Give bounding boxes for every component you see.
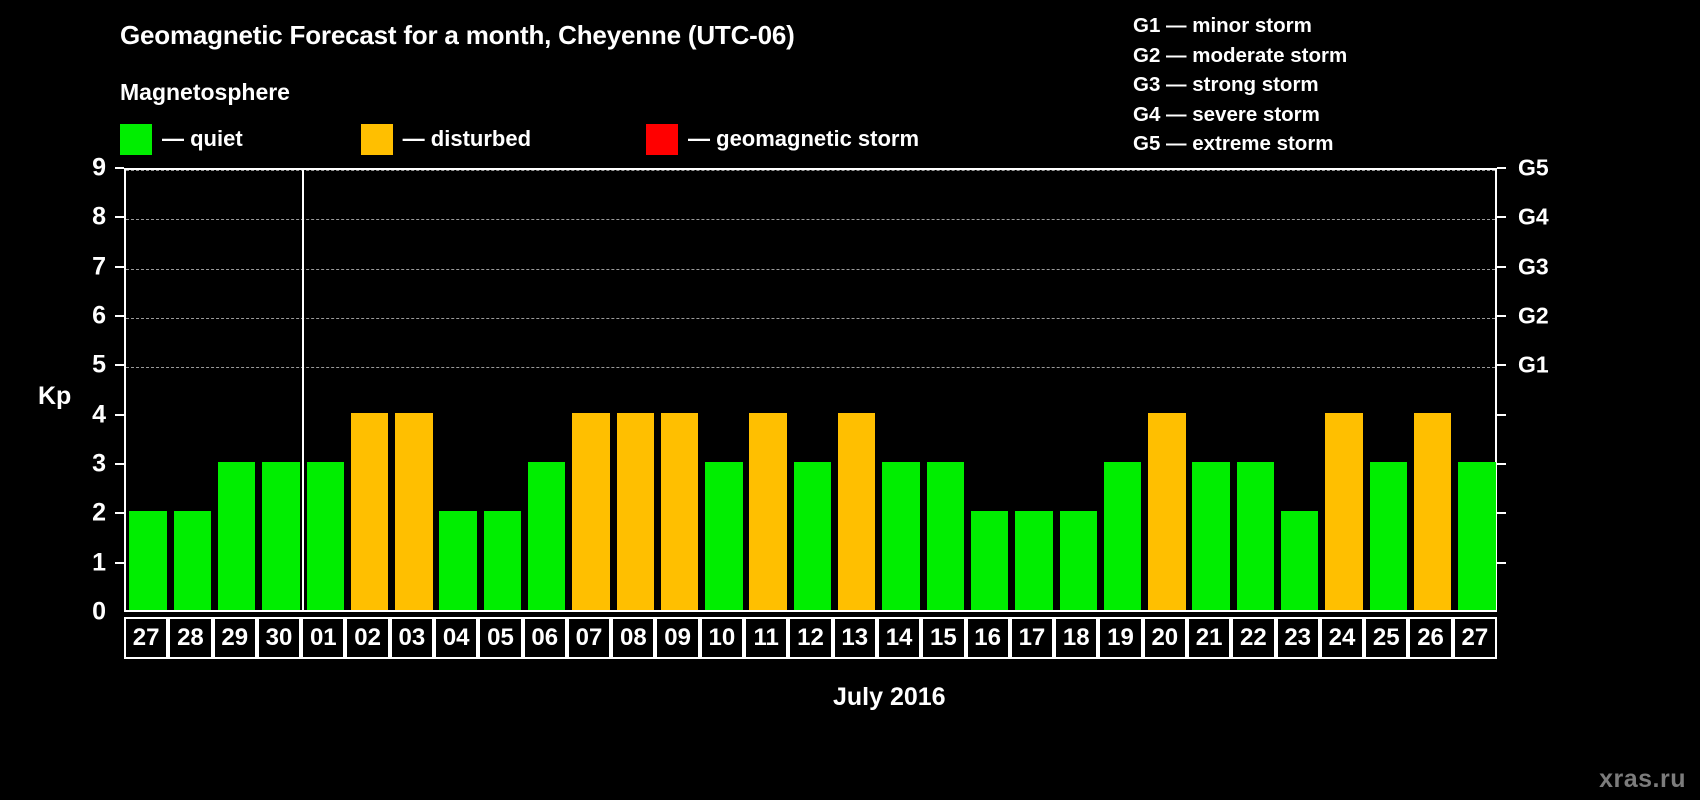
- g-tick-mark-g4: [1497, 216, 1506, 218]
- g-tick-mark-g1: [1497, 364, 1506, 366]
- legend-label-disturbed: — disturbed: [403, 126, 531, 152]
- bar-day-21-index-24: [1192, 462, 1229, 610]
- bar-day-19-index-22: [1104, 462, 1141, 610]
- bar-day-15-index-18: [927, 462, 964, 610]
- date-label-15-index-18: 15: [921, 617, 965, 659]
- g-tick-label-g1: G1: [1518, 354, 1549, 377]
- bar-day-05-index-8: [484, 511, 521, 610]
- section-label-magnetosphere: Magnetosphere: [120, 79, 290, 106]
- date-label-27-index-0: 27: [124, 617, 168, 659]
- bar-day-23-index-26: [1281, 511, 1318, 610]
- y-tick-mark-8: [115, 216, 124, 218]
- y-tick-mark-7: [115, 266, 124, 268]
- date-label-20-index-23: 20: [1143, 617, 1187, 659]
- date-label-29-index-2: 29: [213, 617, 257, 659]
- y-tick-label-6: 6: [66, 304, 106, 329]
- bar-day-10-index-13: [705, 462, 742, 610]
- y-tick-mark-3: [115, 463, 124, 465]
- g-tick-mark-g3: [1497, 266, 1506, 268]
- date-axis: 2728293001020304050607080910111213141516…: [124, 617, 1497, 659]
- bar-day-03-index-6: [395, 413, 432, 610]
- g-tick-label-g3: G3: [1518, 255, 1549, 278]
- bar-day-17-index-20: [1015, 511, 1052, 610]
- bar-day-06-index-9: [528, 462, 565, 610]
- legend-swatch-storm-icon: [646, 124, 678, 155]
- y-tick-label-7: 7: [66, 254, 106, 279]
- y-tick-label-5: 5: [66, 353, 106, 378]
- date-label-26-index-29: 26: [1408, 617, 1452, 659]
- y-tick-mark-4: [115, 414, 124, 416]
- bar-day-22-index-25: [1237, 462, 1274, 610]
- plot-inner: [126, 170, 1495, 610]
- g-tick-mark-g2: [1497, 315, 1506, 317]
- color-legend: — quiet— disturbed— geomagnetic storm: [120, 122, 919, 156]
- date-label-13-index-16: 13: [833, 617, 877, 659]
- date-label-10-index-13: 10: [700, 617, 744, 659]
- legend-swatch-quiet-icon: [120, 124, 152, 155]
- g-minor-tick-kp-2: [1497, 512, 1506, 514]
- y-tick-label-4: 4: [66, 402, 106, 427]
- date-label-08-index-11: 08: [611, 617, 655, 659]
- date-label-03-index-6: 03: [390, 617, 434, 659]
- bar-day-26-index-29: [1414, 413, 1451, 610]
- bar-day-12-index-15: [794, 462, 831, 610]
- y-tick-label-9: 9: [66, 156, 106, 181]
- bar-day-28-index-1: [174, 511, 211, 610]
- bar-day-25-index-28: [1370, 462, 1407, 610]
- date-label-17-index-20: 17: [1010, 617, 1054, 659]
- date-label-01-index-4: 01: [301, 617, 345, 659]
- bar-day-09-index-12: [661, 413, 698, 610]
- date-label-24-index-27: 24: [1320, 617, 1364, 659]
- storm-scale-row-g1: G1 — minor storm: [1133, 11, 1347, 41]
- bar-day-24-index-27: [1325, 413, 1362, 610]
- storm-scale-row-g2: G2 — moderate storm: [1133, 41, 1347, 71]
- bars-layer: [126, 170, 1495, 610]
- date-label-12-index-15: 12: [788, 617, 832, 659]
- bar-day-30-index-3: [262, 462, 299, 610]
- date-label-18-index-21: 18: [1054, 617, 1098, 659]
- g-minor-tick-kp-3: [1497, 463, 1506, 465]
- legend-entry-storm: — geomagnetic storm: [646, 122, 919, 156]
- y-tick-label-2: 2: [66, 501, 106, 526]
- date-label-23-index-26: 23: [1276, 617, 1320, 659]
- bar-day-14-index-17: [882, 462, 919, 610]
- date-label-11-index-14: 11: [744, 617, 788, 659]
- date-label-30-index-3: 30: [257, 617, 301, 659]
- y-tick-mark-5: [115, 364, 124, 366]
- date-label-09-index-12: 09: [655, 617, 699, 659]
- bar-day-16-index-19: [971, 511, 1008, 610]
- date-label-27-index-30: 27: [1453, 617, 1497, 659]
- date-label-05-index-8: 05: [478, 617, 522, 659]
- bar-day-04-index-7: [439, 511, 476, 610]
- g-tick-label-g4: G4: [1518, 206, 1549, 229]
- date-label-06-index-9: 06: [523, 617, 567, 659]
- y-tick-mark-2: [115, 512, 124, 514]
- date-label-04-index-7: 04: [434, 617, 478, 659]
- date-label-25-index-28: 25: [1364, 617, 1408, 659]
- g-tick-mark-g5: [1497, 167, 1506, 169]
- bar-day-20-index-23: [1148, 413, 1185, 610]
- date-label-16-index-19: 16: [966, 617, 1010, 659]
- page-title: Geomagnetic Forecast for a month, Cheyen…: [120, 20, 795, 51]
- y-tick-mark-6: [115, 315, 124, 317]
- date-label-28-index-1: 28: [168, 617, 212, 659]
- legend-entry-disturbed: — disturbed: [361, 122, 531, 156]
- g-tick-label-g2: G2: [1518, 305, 1549, 328]
- y-axis-title: Kp: [38, 382, 71, 411]
- legend-swatch-disturbed-icon: [361, 124, 393, 155]
- legend-label-storm: — geomagnetic storm: [688, 126, 919, 152]
- bar-day-11-index-14: [749, 413, 786, 610]
- month-separator-line: [302, 170, 304, 610]
- g-tick-label-g5: G5: [1518, 157, 1549, 180]
- legend-label-quiet: — quiet: [162, 126, 243, 152]
- bar-day-02-index-5: [351, 413, 388, 610]
- watermark: xras.ru: [1599, 765, 1686, 794]
- storm-scale-row-g4: G4 — severe storm: [1133, 100, 1347, 130]
- storm-scale-row-g5: G5 — extreme storm: [1133, 129, 1347, 159]
- g-minor-tick-kp-1: [1497, 562, 1506, 564]
- storm-scale-row-g3: G3 — strong storm: [1133, 70, 1347, 100]
- storm-scale-legend: G1 — minor stormG2 — moderate stormG3 — …: [1133, 11, 1347, 159]
- bar-day-18-index-21: [1060, 511, 1097, 610]
- date-label-02-index-5: 02: [345, 617, 389, 659]
- bar-day-27-index-0: [129, 511, 166, 610]
- y-tick-mark-9: [115, 167, 124, 169]
- bar-day-29-index-2: [218, 462, 255, 610]
- g-minor-tick-kp-4: [1497, 414, 1506, 416]
- bar-day-01-index-4: [307, 462, 344, 610]
- bar-day-07-index-10: [572, 413, 609, 610]
- y-tick-mark-1: [115, 562, 124, 564]
- bar-day-08-index-11: [617, 413, 654, 610]
- y-tick-label-8: 8: [66, 205, 106, 230]
- y-tick-label-1: 1: [66, 550, 106, 575]
- date-label-07-index-10: 07: [567, 617, 611, 659]
- bar-day-27-index-30: [1458, 462, 1495, 610]
- date-label-14-index-17: 14: [877, 617, 921, 659]
- date-label-22-index-25: 22: [1231, 617, 1275, 659]
- date-label-21-index-24: 21: [1187, 617, 1231, 659]
- bar-day-13-index-16: [838, 413, 875, 610]
- date-label-19-index-22: 19: [1098, 617, 1142, 659]
- x-axis-title: July 2016: [833, 683, 946, 712]
- y-tick-label-0: 0: [66, 600, 106, 625]
- y-tick-label-3: 3: [66, 452, 106, 477]
- legend-entry-quiet: — quiet: [120, 122, 243, 156]
- plot-area: [124, 168, 1497, 612]
